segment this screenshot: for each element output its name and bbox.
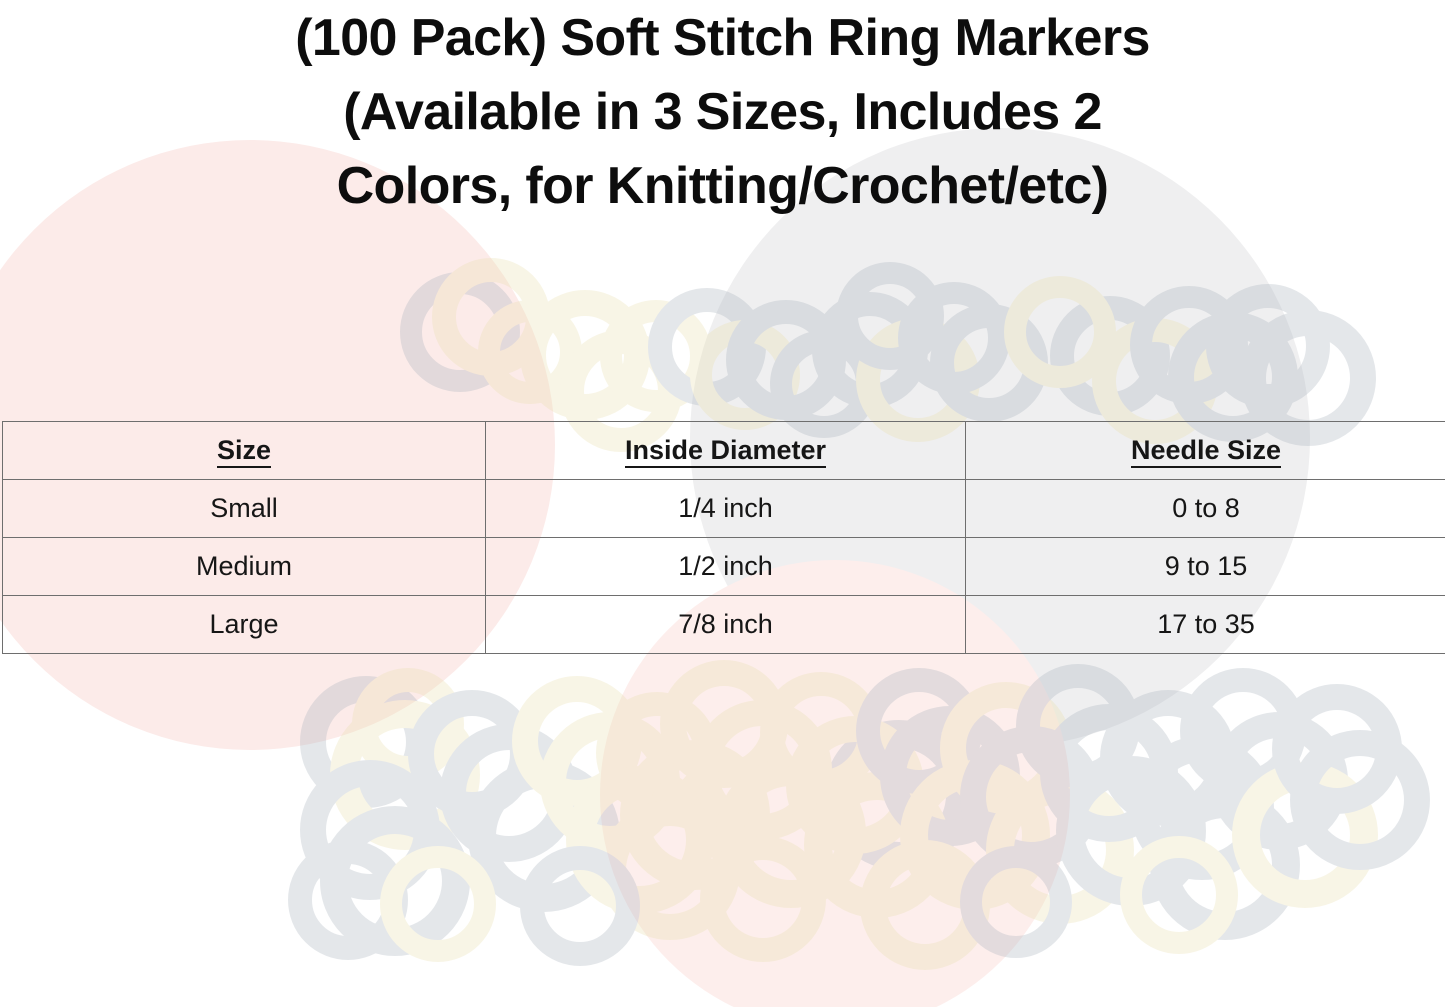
cell-size: Large (3, 596, 486, 654)
cell-inside-diameter: 1/4 inch (486, 480, 966, 538)
table-row: Medium 1/2 inch 9 to 15 (3, 538, 1445, 596)
size-spec-table: Size Inside Diameter Needle Size Small 1… (2, 421, 1445, 654)
table-header-row: Size Inside Diameter Needle Size (3, 422, 1445, 480)
cell-size: Medium (3, 538, 486, 596)
column-header-inside-diameter: Inside Diameter (486, 422, 966, 480)
table-row: Large 7/8 inch 17 to 35 (3, 596, 1445, 654)
cell-inside-diameter: 1/2 inch (486, 538, 966, 596)
page-title-line-1: (100 Pack) Soft Stitch Ring Markers (0, 2, 1445, 76)
page-title-line-2: (Available in 3 Sizes, Includes 2 (0, 76, 1445, 150)
cell-needle-size: 0 to 8 (966, 480, 1445, 538)
column-header-size-label: Size (217, 435, 271, 468)
table-body: Small 1/4 inch 0 to 8 Medium 1/2 inch 9 … (3, 480, 1445, 654)
product-infographic: (100 Pack) Soft Stitch Ring Markers (Ava… (0, 0, 1445, 1007)
column-header-needle-size-label: Needle Size (1131, 435, 1281, 468)
column-header-needle-size: Needle Size (966, 422, 1445, 480)
page-title-line-3: Colors, for Knitting/Crochet/etc) (0, 150, 1445, 224)
table-header: Size Inside Diameter Needle Size (3, 422, 1445, 480)
page-title: (100 Pack) Soft Stitch Ring Markers (Ava… (0, 2, 1445, 223)
cell-size: Small (3, 480, 486, 538)
column-header-inside-diameter-label: Inside Diameter (625, 435, 826, 468)
column-header-size: Size (3, 422, 486, 480)
cell-inside-diameter: 7/8 inch (486, 596, 966, 654)
cell-needle-size: 17 to 35 (966, 596, 1445, 654)
table-row: Small 1/4 inch 0 to 8 (3, 480, 1445, 538)
cell-needle-size: 9 to 15 (966, 538, 1445, 596)
